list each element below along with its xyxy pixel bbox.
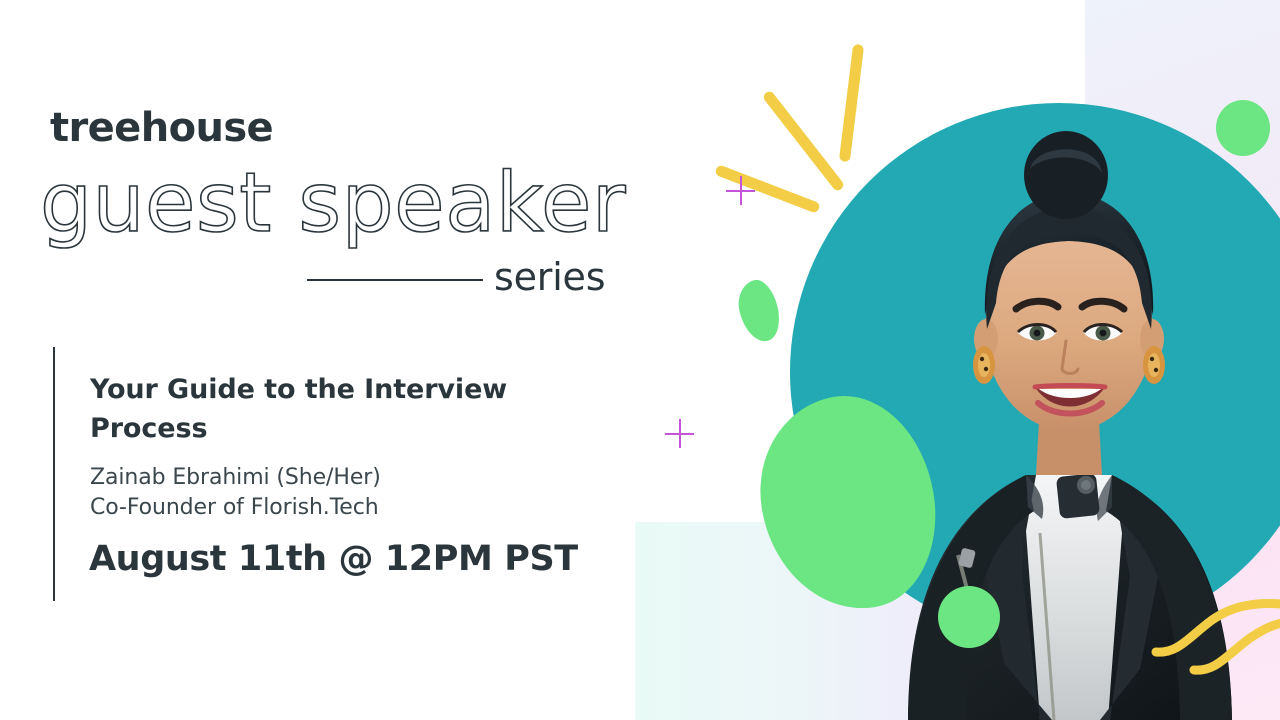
series-divider-rule (307, 279, 483, 281)
speaker-name: Zainab Ebrahimi (She/Her) (90, 462, 381, 494)
headline-text: guest speaker (40, 156, 626, 251)
event-datetime: August 11th @ 12PM PST (89, 538, 578, 580)
green-dot-bottom (938, 586, 1000, 648)
detail-accent-rule (53, 347, 55, 601)
headline-guest-speaker: guest speaker (40, 163, 626, 245)
series-label: series (494, 258, 605, 296)
magenta-plus-icon-1 (726, 176, 755, 205)
presentation-slide: treehouse guest speaker series Your Guid… (0, 0, 1280, 720)
speaker-portrait (790, 103, 1280, 641)
magenta-plus-icon-2 (665, 419, 694, 448)
green-dot-top-right (1216, 100, 1270, 156)
talk-title: Your Guide to the Interview Process (90, 370, 520, 448)
brand-wordmark: treehouse (50, 108, 273, 148)
yellow-wavy-lines-icon (1150, 570, 1280, 690)
green-blob-small (733, 276, 785, 345)
speaker-role: Co-Founder of Florish.Tech (90, 492, 379, 524)
